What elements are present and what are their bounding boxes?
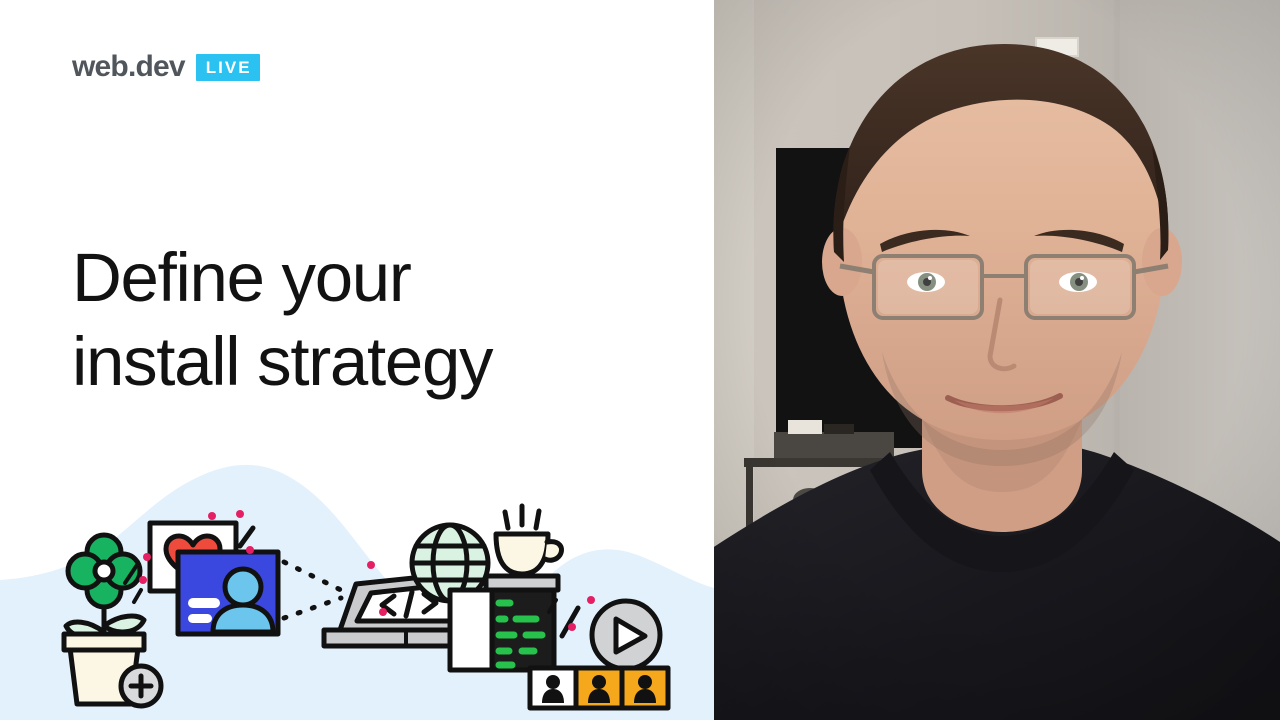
logo-wordmark: web.dev [72,52,185,82]
slide-illustration [0,490,714,720]
slide-title: Define your install strategy [72,236,672,404]
add-plus-icon [121,666,161,706]
logo-live-badge: LIVE [196,54,260,81]
person-card-icon [178,552,278,634]
speaker-video-feed [714,0,1280,720]
presentation-stage: web.dev LIVE Define your install strateg… [0,0,1280,720]
dotted-connector [284,562,345,618]
slide-title-line-2: install strategy [72,320,672,404]
slide-title-line-1: Define your [72,236,672,320]
play-button-icon [592,601,660,669]
terminal-window-icon [450,576,558,670]
brand-logo: web.dev LIVE [72,52,260,82]
coffee-cup-icon [496,506,561,574]
slide-panel: web.dev LIVE Define your install strateg… [0,0,714,720]
video-frame [714,0,1280,720]
people-tiles-icon [530,668,668,708]
